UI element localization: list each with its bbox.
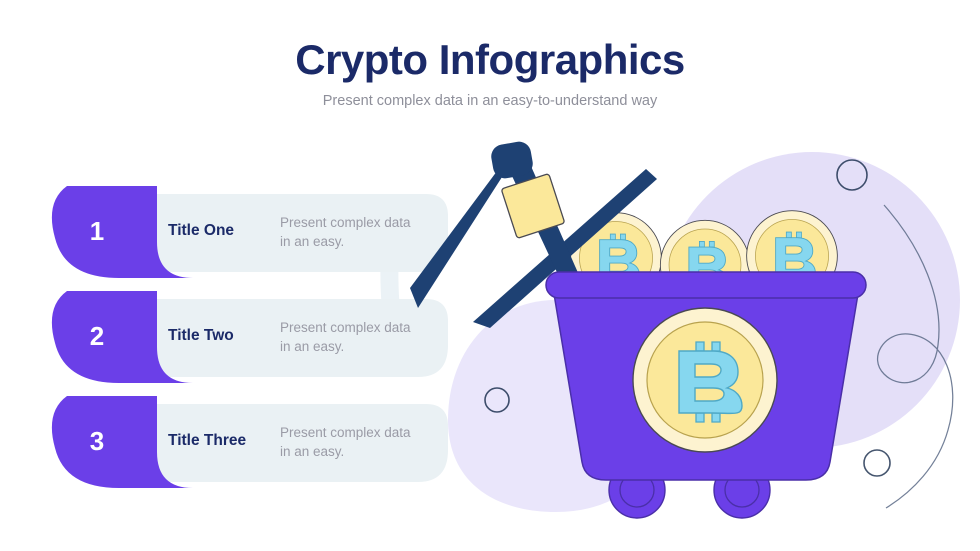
step-description: Present complex data in an easy. — [280, 423, 415, 461]
infographic-slide: Crypto Infographics Present complex data… — [0, 0, 980, 551]
bitcoin-coin-front — [633, 308, 777, 452]
list-item[interactable]: 2 Title Two Present complex data in an e… — [0, 291, 470, 396]
step-title: Title Three — [168, 432, 246, 450]
step-number: 1 — [82, 216, 112, 247]
bitcoin-mining-illustration — [410, 130, 980, 551]
step-title: Title One — [168, 222, 234, 240]
page-title: Crypto Infographics — [0, 38, 980, 82]
step-number: 2 — [82, 321, 112, 352]
step-title: Title Two — [168, 327, 234, 345]
page-subtitle: Present complex data in an easy-to-under… — [0, 93, 980, 109]
list-item[interactable]: 3 Title Three Present complex data in an… — [0, 396, 470, 501]
step-description: Present complex data in an easy. — [280, 213, 415, 251]
step-number: 3 — [82, 426, 112, 457]
step-description: Present complex data in an easy. — [280, 318, 415, 356]
steps-list: 1 Title One Present complex data in an e… — [0, 186, 470, 501]
cart-rim — [546, 272, 866, 298]
list-item[interactable]: 1 Title One Present complex data in an e… — [0, 186, 470, 291]
header: Crypto Infographics Present complex data… — [0, 38, 980, 109]
